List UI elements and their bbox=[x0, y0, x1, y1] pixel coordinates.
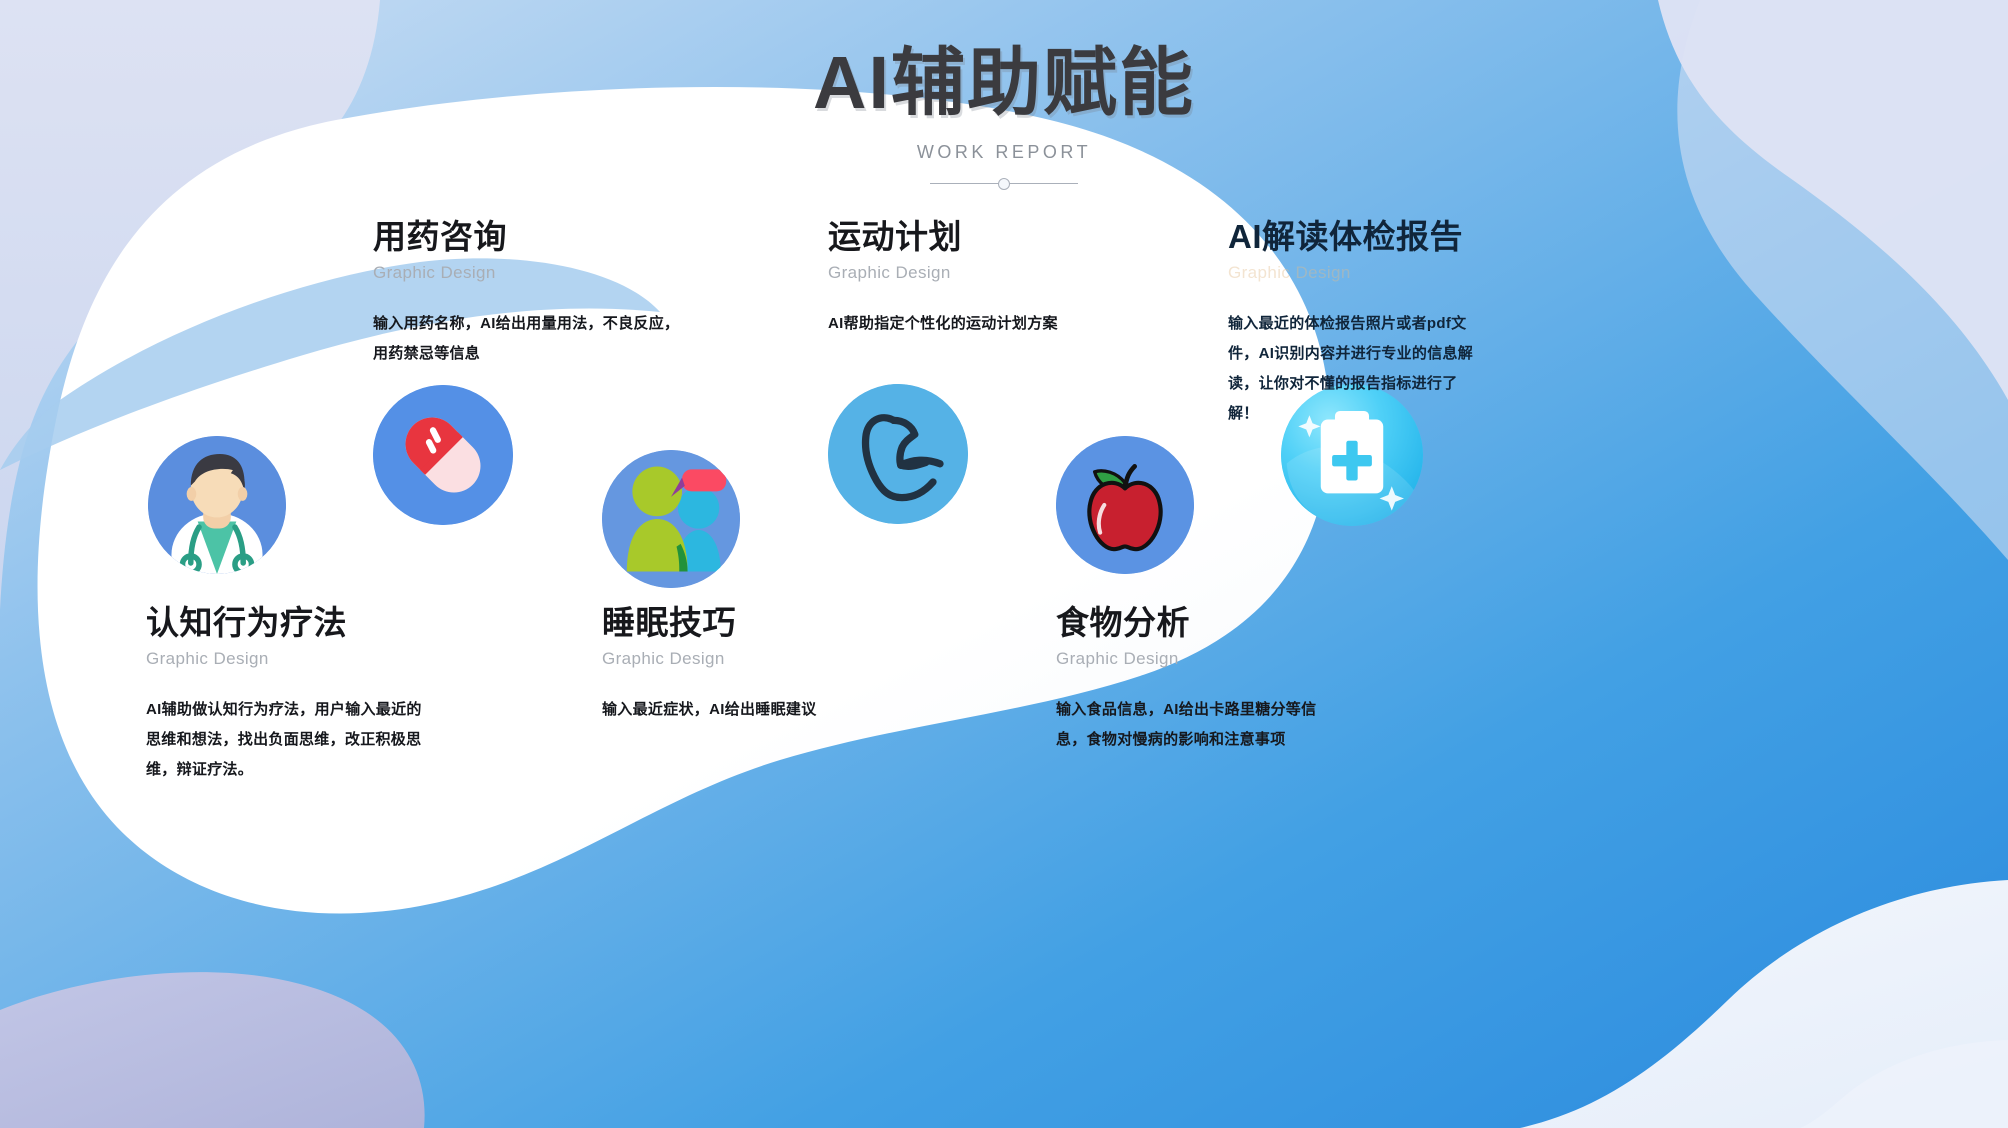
slide-canvas: AI辅助赋能 WORK REPORT bbox=[0, 0, 2008, 1128]
feature-description: 输入最近症状，AI给出睡眠建议 bbox=[602, 695, 862, 725]
feature-description: AI辅助做认知行为疗法，用户输入最近的思维和想法，找出负面思维，改正积极思维，辩… bbox=[146, 695, 426, 785]
pill-icon bbox=[373, 385, 513, 525]
title-divider bbox=[930, 177, 1078, 191]
page-subtitle: WORK REPORT bbox=[0, 142, 2008, 163]
feature-description: 输入食品信息，AI给出卡路里糖分等信息，食物对慢病的影响和注意事项 bbox=[1056, 695, 1336, 755]
feature-description: 输入最近的体检报告照片或者pdf文件，AI识别内容并进行专业的信息解读，让你对不… bbox=[1228, 309, 1488, 429]
feature-subtitle: Graphic Design bbox=[1228, 263, 1488, 283]
feature-subtitle: Graphic Design bbox=[373, 263, 683, 283]
muscle-icon bbox=[828, 384, 968, 524]
slide-header: AI辅助赋能 WORK REPORT bbox=[0, 46, 2008, 191]
feature-title: 认知行为疗法 bbox=[146, 604, 426, 643]
feature-title: 运动计划 bbox=[828, 218, 1088, 257]
divider-dot-icon bbox=[998, 178, 1010, 190]
feature-subtitle: Graphic Design bbox=[602, 649, 862, 669]
feature-sleep-tips[interactable]: 睡眠技巧 Graphic Design 输入最近症状，AI给出睡眠建议 bbox=[602, 604, 862, 725]
feature-cognitive-behavioral-therapy[interactable]: 认知行为疗法 Graphic Design AI辅助做认知行为疗法，用户输入最近… bbox=[146, 604, 426, 785]
feature-title: AI解读体检报告 bbox=[1228, 218, 1488, 257]
feature-description: 输入用药名称，AI给出用量用法，不良反应，用药禁忌等信息 bbox=[373, 309, 683, 369]
page-title: AI辅助赋能 bbox=[0, 46, 2008, 120]
feature-food-analysis[interactable]: 食物分析 Graphic Design 输入食品信息，AI给出卡路里糖分等信息，… bbox=[1056, 604, 1336, 755]
doctor-icon bbox=[148, 436, 286, 574]
feature-medication-consultation[interactable]: 用药咨询 Graphic Design 输入用药名称，AI给出用量用法，不良反应… bbox=[373, 218, 683, 369]
feature-subtitle: Graphic Design bbox=[828, 263, 1088, 283]
feature-title: 用药咨询 bbox=[373, 218, 683, 257]
feature-title: 睡眠技巧 bbox=[602, 604, 862, 643]
conversation-icon bbox=[602, 450, 740, 588]
feature-exercise-plan[interactable]: 运动计划 Graphic Design AI帮助指定个性化的运动计划方案 bbox=[828, 218, 1088, 339]
feature-ai-health-report[interactable]: AI解读体检报告 Graphic Design 输入最近的体检报告照片或者pdf… bbox=[1228, 218, 1488, 429]
feature-description: AI帮助指定个性化的运动计划方案 bbox=[828, 309, 1088, 339]
apple-icon bbox=[1056, 436, 1194, 574]
feature-subtitle: Graphic Design bbox=[146, 649, 426, 669]
feature-subtitle: Graphic Design bbox=[1056, 649, 1336, 669]
feature-title: 食物分析 bbox=[1056, 604, 1336, 643]
